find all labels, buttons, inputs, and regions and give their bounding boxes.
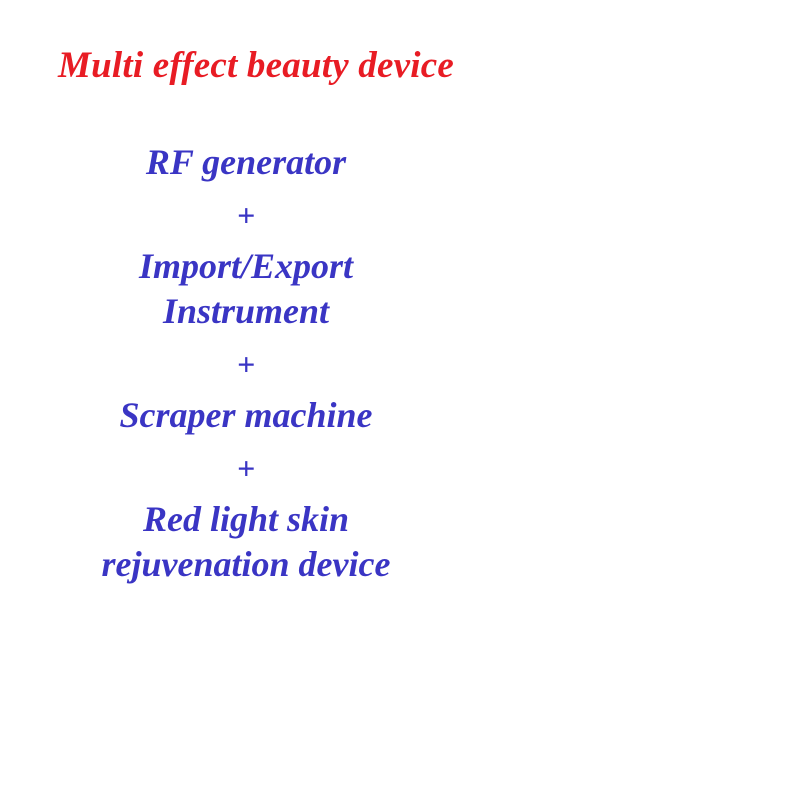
feature-item-import-export-instrument: Import/Export Instrument xyxy=(46,244,446,334)
page-title: Multi effect beauty device xyxy=(58,44,538,88)
product-device-image: CLEAN IMPORT EMS RF SONIC 清洁模式 开关 导入模式 开… xyxy=(500,0,800,800)
feature-list: RF generator + Import/Export Instrument … xyxy=(46,140,446,587)
feature-item-scraper-machine: Scraper machine xyxy=(46,393,446,438)
feature-item-rf-generator: RF generator xyxy=(46,140,446,185)
feature-separator-2: + xyxy=(46,347,446,381)
marketing-copy-column: Multi effect beauty device RF generator … xyxy=(0,0,540,800)
feature-item-red-light-rejuvenation: Red light skin rejuvenation device xyxy=(46,497,446,587)
feature-separator-1: + xyxy=(46,198,446,232)
feature-separator-3: + xyxy=(46,451,446,485)
product-promo-image: Multi effect beauty device RF generator … xyxy=(0,0,800,800)
